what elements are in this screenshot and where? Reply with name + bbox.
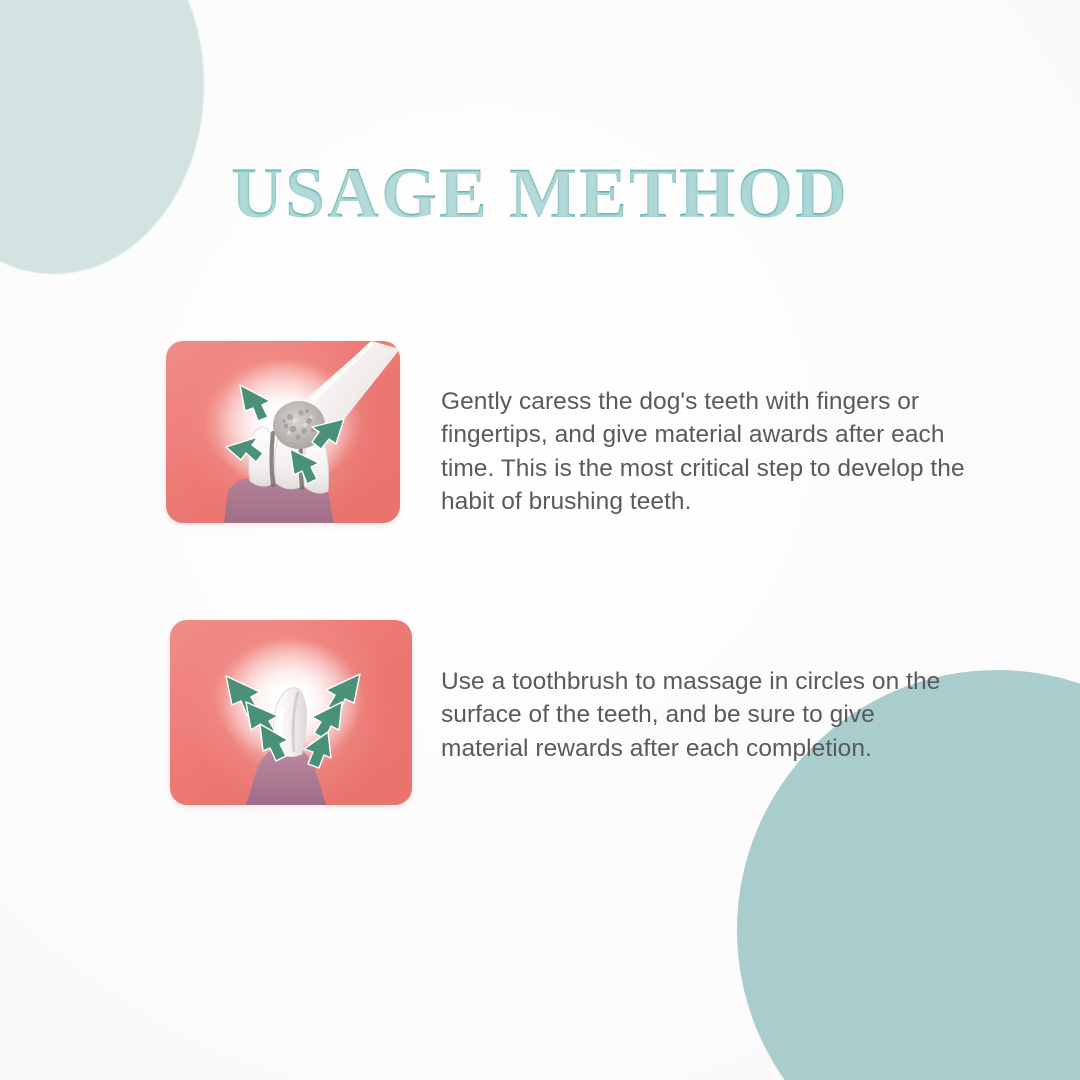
decorative-circle-top-left xyxy=(0,0,204,274)
poster-canvas: USAGE METHOD xyxy=(0,0,1080,1080)
page-title: USAGE METHOD xyxy=(0,156,1080,232)
finger-brushing-teeth-illustration xyxy=(166,341,400,523)
step-item-2 xyxy=(170,620,412,805)
toothbrush-circular-massage-illustration xyxy=(170,620,412,805)
step-2-description: Use a toothbrush to massage in circles o… xyxy=(441,665,969,766)
step-item-1 xyxy=(166,341,400,523)
step-1-description: Gently caress the dog's teeth with finge… xyxy=(441,385,973,519)
